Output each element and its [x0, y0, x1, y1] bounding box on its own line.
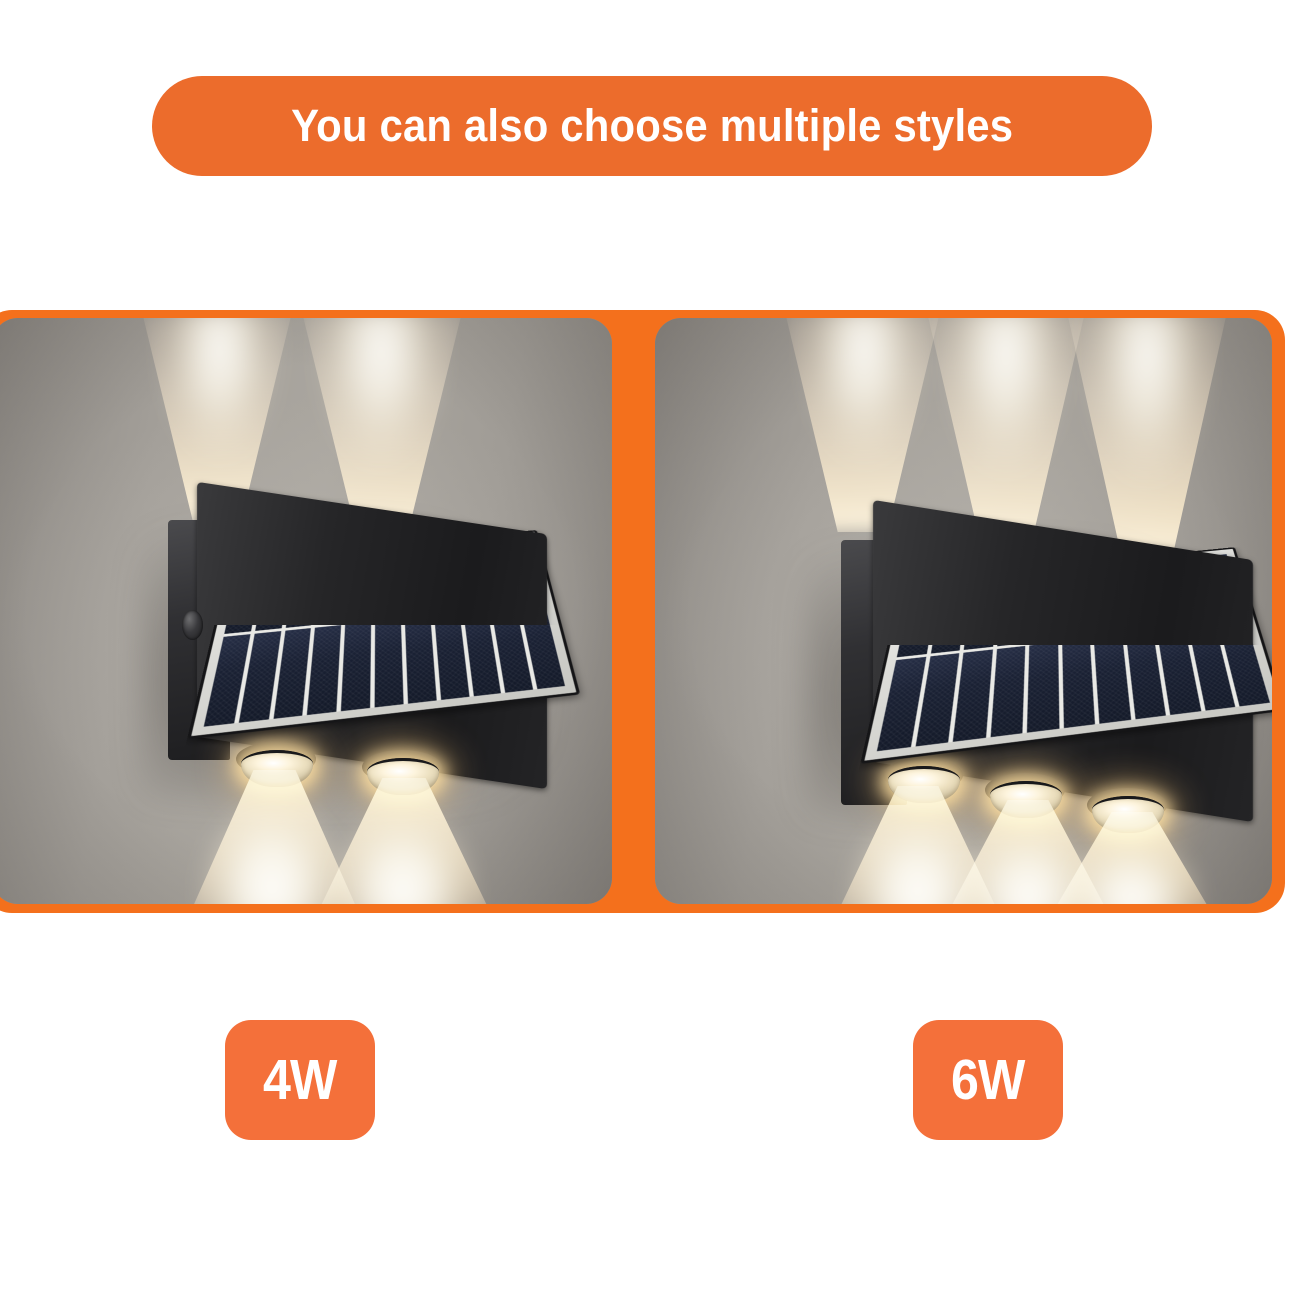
solar-cell [990, 646, 1025, 737]
solar-cell [1094, 635, 1131, 723]
led-lens-2 [990, 781, 1062, 818]
led-lens-2 [367, 758, 439, 795]
header-banner: You can also choose multiple styles [152, 76, 1152, 176]
solar-cell [375, 619, 404, 707]
solar-cell [1027, 642, 1059, 732]
product-photo-6w[interactable] [655, 318, 1272, 904]
lamp-unit-6w [655, 318, 1272, 904]
solar-cell [953, 650, 993, 742]
led-lens-1 [888, 766, 960, 803]
led-lens-3 [1092, 796, 1164, 833]
wattage-badge-label: 6W [951, 1047, 1024, 1113]
lamp-unit-4w [0, 318, 612, 904]
page-title: You can also choose multiple styles [291, 100, 1013, 152]
wattage-badge-6w[interactable]: 6W [913, 1020, 1063, 1140]
solar-cell [405, 616, 437, 704]
solar-cell [341, 622, 371, 711]
pir-sensor-icon [182, 610, 203, 640]
led-lens-1 [241, 750, 313, 787]
solar-cell [307, 625, 341, 715]
product-photo-4w[interactable] [0, 318, 612, 904]
wattage-badge-4w[interactable]: 4W [225, 1020, 375, 1140]
wattage-badge-label: 4W [263, 1047, 336, 1113]
solar-cell [1062, 639, 1095, 728]
